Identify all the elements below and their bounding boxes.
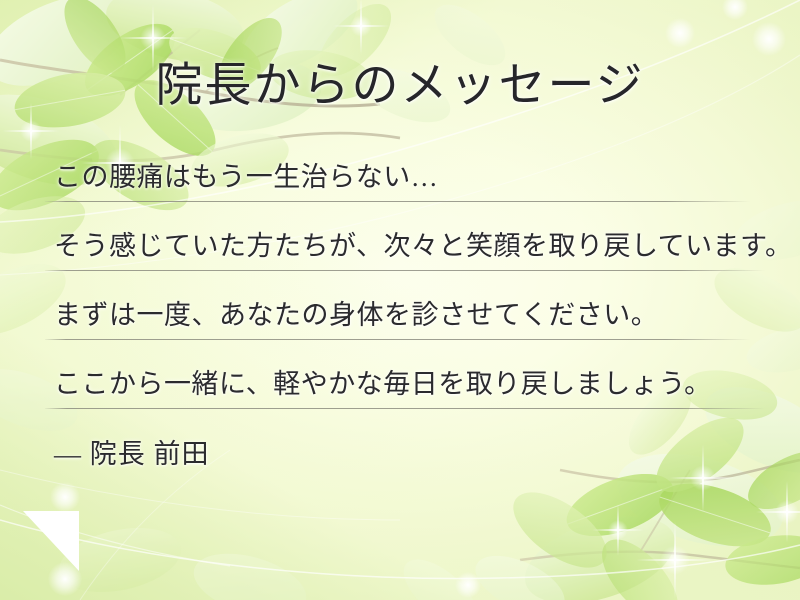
signature-text: ― 院長 前田 (54, 432, 210, 476)
message-line-divider (45, 339, 750, 340)
message-line: まずは一度、あなたの身体を診させてください。 (45, 293, 765, 362)
message-line-divider (45, 408, 765, 409)
message-line: この腰痛はもう一生治らない… (45, 155, 765, 224)
message-slide: 院長からのメッセージ この腰痛はもう一生治らない… そう感じていた方たちが、次々… (0, 0, 800, 600)
message-line-text: ここから一緒に、軽やかな毎日を取り戻しましょう。 (54, 362, 712, 406)
message-line-text: そう感じていた方たちが、次々と笑顔を取り戻しています。 (54, 224, 792, 268)
message-line: そう感じていた方たちが、次々と笑顔を取り戻しています。 (45, 224, 765, 293)
message-line-divider (45, 270, 765, 271)
message-line-divider (45, 201, 750, 202)
message-line-text: この腰痛はもう一生治らない… (54, 155, 438, 199)
page-title: 院長からのメッセージ (0, 62, 800, 111)
message-line-text: まずは一度、あなたの身体を診させてください。 (54, 293, 658, 337)
message-list: この腰痛はもう一生治らない… そう感じていた方たちが、次々と笑顔を取り戻していま… (45, 155, 765, 362)
content-area: 院長からのメッセージ この腰痛はもう一生治らない… そう感じていた方たちが、次々… (0, 0, 800, 600)
